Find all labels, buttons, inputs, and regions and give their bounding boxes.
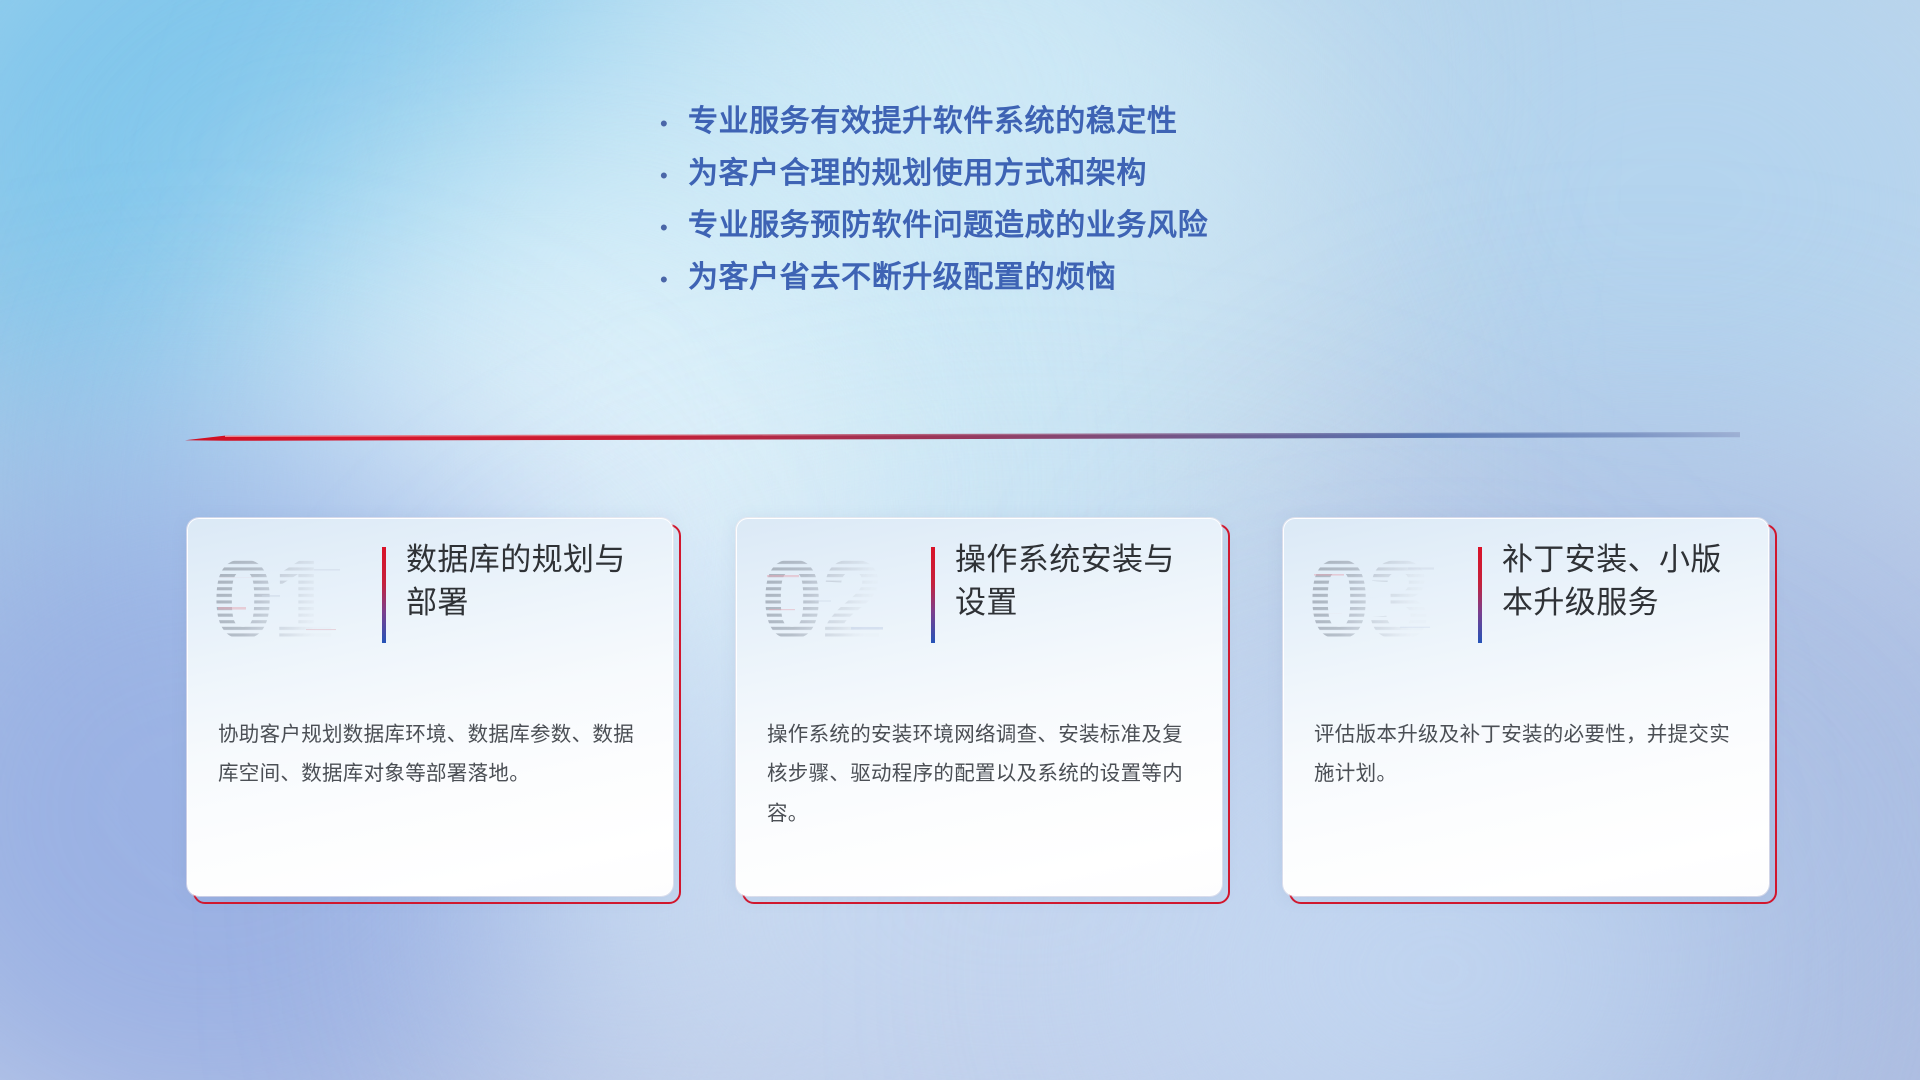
bullet-label: 专业服务预防软件问题造成的业务风险 <box>688 200 1208 244</box>
bullet-dot-icon: • <box>660 163 688 187</box>
bullet-label: 专业服务有效提升软件系统的稳定性 <box>688 96 1178 140</box>
card-body-text: 评估版本升级及补丁安装的必要性，并提交实施计划。 <box>1314 715 1734 794</box>
card-surface[interactable]: 03 补丁安装、小版本升级服务 <box>1283 518 1769 896</box>
bullet-dot-icon: • <box>660 267 688 291</box>
card-title: 操作系统安装与设置 <box>955 539 1205 625</box>
list-item: • 为客户合理的规划使用方式和架构 <box>660 148 1208 200</box>
service-card[interactable]: 02 操作系统安装与设置 <box>736 518 1228 900</box>
number-03-icon: 03 <box>1306 541 1454 657</box>
service-card[interactable]: 01 数据库的规划与部署 <box>187 518 679 900</box>
service-card-row: 01 数据库的规划与部署 <box>0 518 1920 918</box>
list-item: • 为客户省去不断升级配置的烦恼 <box>660 252 1208 304</box>
card-body-text: 操作系统的安装环境网络调查、安装标准及复核步骤、驱动程序的配置以及系统的设置等内… <box>767 715 1187 833</box>
card-number-striped-art: 02 <box>759 541 907 657</box>
svg-text:01: 01 <box>212 541 333 657</box>
service-card[interactable]: 03 补丁安装、小版本升级服务 <box>1283 518 1775 900</box>
divider-shape-icon <box>185 428 1740 450</box>
card-accent-bar <box>382 547 386 643</box>
card-header: 02 操作系统安装与设置 <box>737 519 1221 699</box>
card-number-striped-art: 03 <box>1306 541 1454 657</box>
list-item: • 专业服务预防软件问题造成的业务风险 <box>660 200 1208 252</box>
bullet-dot-icon: • <box>660 215 688 239</box>
card-title: 补丁安装、小版本升级服务 <box>1502 539 1752 625</box>
bullet-label: 为客户合理的规划使用方式和架构 <box>688 148 1147 192</box>
card-number-striped-art: 01 <box>210 541 358 657</box>
card-body-text: 协助客户规划数据库环境、数据库参数、数据库空间、数据库对象等部署落地。 <box>218 715 638 794</box>
card-header: 01 数据库的规划与部署 <box>188 519 672 699</box>
card-accent-bar <box>931 547 935 643</box>
number-02-icon: 02 <box>759 541 907 657</box>
card-header: 03 补丁安装、小版本升级服务 <box>1284 519 1768 699</box>
card-accent-bar <box>1478 547 1482 643</box>
bullet-label: 为客户省去不断升级配置的烦恼 <box>688 252 1116 296</box>
benefits-bullet-list: • 专业服务有效提升软件系统的稳定性 • 为客户合理的规划使用方式和架构 • 专… <box>660 96 1208 304</box>
bullet-dot-icon: • <box>660 111 688 135</box>
tapered-divider-rule <box>185 428 1740 450</box>
card-surface[interactable]: 02 操作系统安装与设置 <box>736 518 1222 896</box>
list-item: • 专业服务有效提升软件系统的稳定性 <box>660 96 1208 148</box>
card-title: 数据库的规划与部署 <box>406 539 656 625</box>
number-01-icon: 01 <box>210 541 358 657</box>
card-surface[interactable]: 01 数据库的规划与部署 <box>187 518 673 896</box>
